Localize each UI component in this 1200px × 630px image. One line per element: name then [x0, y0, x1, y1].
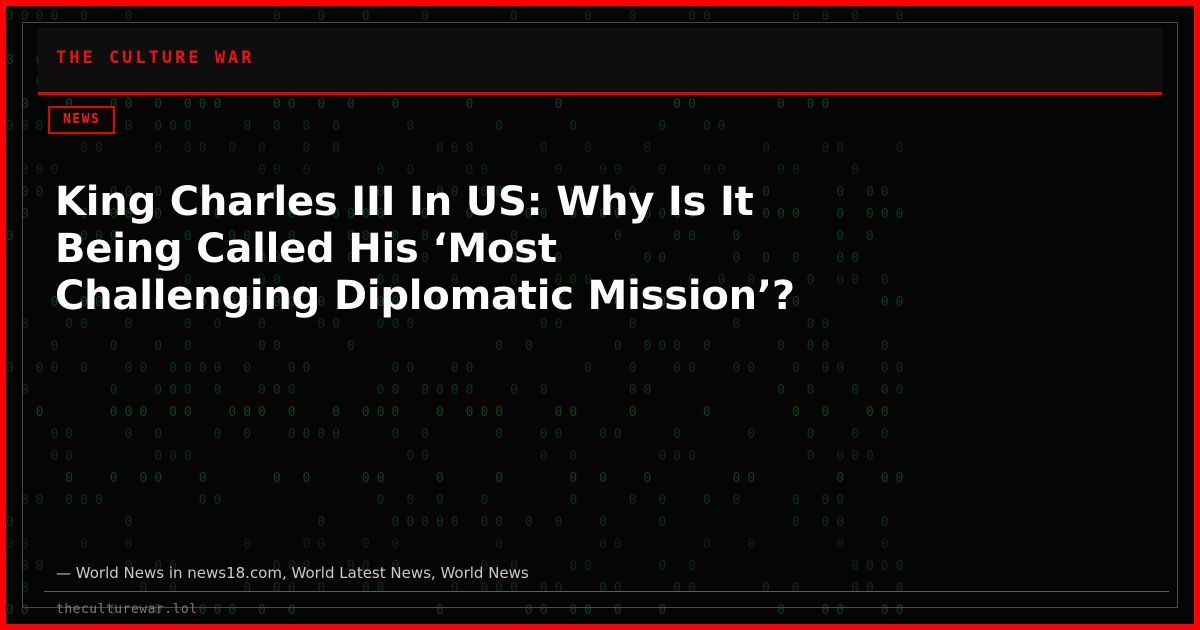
- footer-divider-rule: [44, 591, 1169, 592]
- site-header-bar: THE CULTURE WAR: [38, 28, 1162, 92]
- category-badge-news[interactable]: NEWS: [48, 106, 115, 134]
- article-attribution: — World News in news18.com, World Latest…: [56, 564, 529, 582]
- article-headline: King Charles III In US: Why Is It Being …: [55, 179, 795, 320]
- footer-site-url: theculturewar.lol: [56, 602, 198, 617]
- card-content: THE CULTURE WAR NEWS King Charles III In…: [6, 6, 1194, 624]
- header-divider-rule: [38, 92, 1162, 95]
- social-share-card: 0000 0 0 0 0 0 0 0 0 0 00 0 0 0 0 00 0 0…: [0, 0, 1200, 630]
- site-title: THE CULTURE WAR: [56, 48, 255, 68]
